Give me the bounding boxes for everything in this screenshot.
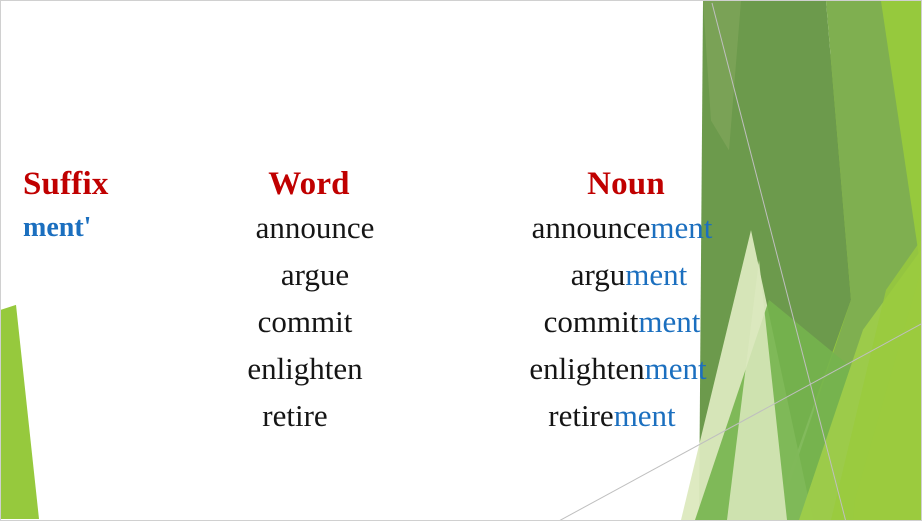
- noun-suffix: ment: [625, 257, 687, 292]
- word-list-item: announce: [190, 204, 440, 251]
- column-noun: Noun announcement argument commitment en…: [471, 164, 781, 439]
- column-heading-word: Word: [184, 164, 434, 204]
- column-suffix: Suffix ment': [9, 164, 179, 251]
- noun-list-item: enlightenment: [463, 345, 773, 392]
- slide-content: Suffix ment' Word announce argue commit …: [1, 1, 921, 520]
- suffix-token: ment': [9, 204, 179, 251]
- noun-stem: commit: [544, 304, 639, 339]
- column-word: Word announce argue commit enlighten ret…: [184, 164, 434, 439]
- noun-suffix: ment: [638, 304, 700, 339]
- noun-suffix: ment: [645, 351, 707, 386]
- column-heading-noun: Noun: [471, 164, 781, 204]
- word-list-item: retire: [170, 392, 420, 439]
- noun-stem: retire: [548, 398, 613, 433]
- noun-list-item: argument: [474, 251, 784, 298]
- word-list-item: argue: [190, 251, 440, 298]
- noun-list-item: announcement: [467, 204, 777, 251]
- column-heading-suffix: Suffix: [9, 164, 179, 204]
- noun-list-item: retirement: [457, 392, 767, 439]
- word-list-item: commit: [180, 298, 430, 345]
- slide-canvas: Suffix ment' Word announce argue commit …: [0, 0, 922, 521]
- noun-stem: argu: [571, 257, 626, 292]
- noun-list-item: commitment: [467, 298, 777, 345]
- noun-stem: enlighten: [529, 351, 644, 386]
- noun-suffix: ment: [614, 398, 676, 433]
- noun-suffix: ment: [650, 210, 712, 245]
- word-list-item: enlighten: [180, 345, 430, 392]
- noun-stem: announce: [532, 210, 651, 245]
